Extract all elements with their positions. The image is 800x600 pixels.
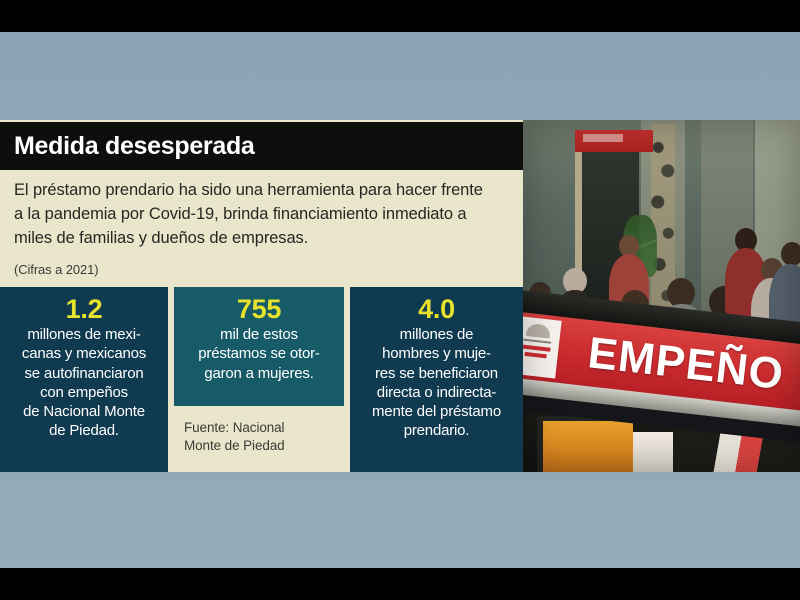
screenshot-root: Medida desesperada El préstamo prendario…	[0, 0, 800, 600]
logo-dome-icon	[526, 323, 551, 339]
stats-strip: 1.2 millones de mexi- canas y mexicanos …	[0, 287, 523, 472]
infographic-text-area: Medida desesperada El préstamo prendario…	[0, 120, 523, 472]
logo-rule	[523, 339, 551, 344]
stat-text-3: millones de hombres y muje- res se benef…	[356, 325, 517, 440]
source-note-text: Fuente: Nacional Monte de Piedad	[184, 419, 344, 455]
letterbox-bottom	[0, 568, 800, 600]
stat-text-2: mil de estos préstamos se otor- garon a …	[180, 325, 338, 383]
photo-person-head	[781, 242, 800, 266]
figures-note: (Cifras a 2021)	[14, 261, 487, 280]
pawn-shop-photo: EMPEÑO	[523, 120, 800, 472]
logo-red-bar-short	[524, 352, 546, 358]
logo-red-bar	[523, 345, 551, 352]
stat-number-3: 4.0	[356, 295, 517, 324]
title-bar: Medida desesperada	[0, 122, 523, 170]
stat-number-2: 755	[180, 295, 338, 324]
photo-shop-window	[537, 416, 633, 472]
stat-column-2: 755 mil de estos préstamos se otor- garo…	[174, 287, 344, 472]
lede-text: El préstamo prendario ha sido una herram…	[14, 179, 487, 250]
monte-de-piedad-logo	[523, 316, 562, 379]
letterbox-top	[0, 0, 800, 32]
page-title: Medida desesperada	[0, 134, 255, 159]
stat-column-1: 1.2 millones de mexi- canas y mexicanos …	[0, 287, 168, 472]
stat-number-1: 1.2	[6, 295, 162, 324]
lede-panel: El préstamo prendario ha sido una herram…	[0, 170, 523, 287]
stat-column-3: 4.0 millones de hombres y muje- res se b…	[350, 287, 523, 472]
photo-upper-sign-highlight	[583, 134, 623, 142]
stat-text-1: millones de mexi- canas y mexicanos se a…	[6, 325, 162, 440]
photo-shop-window-secondary	[633, 432, 673, 472]
source-note: Fuente: Nacional Monte de Piedad	[174, 406, 344, 472]
infographic-card: Medida desesperada El préstamo prendario…	[0, 120, 800, 472]
